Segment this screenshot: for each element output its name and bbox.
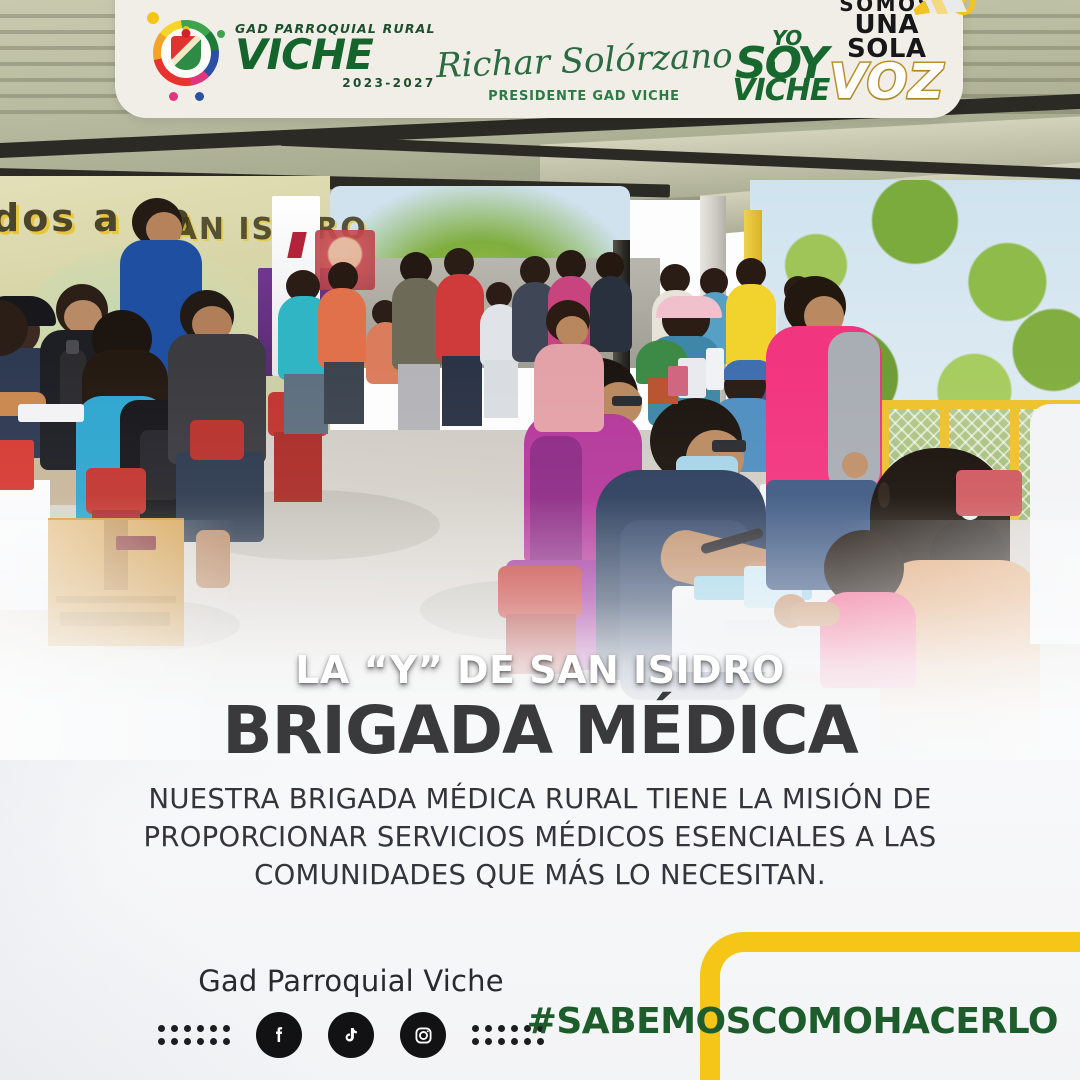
president-role-label: PRESIDENTE GAD VICHE bbox=[436, 89, 733, 104]
megaphone-icon bbox=[904, 0, 980, 31]
footer: #SABEMOSCOMOHACERLO Gad Parroquial Viche bbox=[0, 940, 1080, 1080]
facebook-icon[interactable] bbox=[256, 1012, 302, 1058]
yo-soy-viche-logo: YO SOY ❤ VICHE bbox=[732, 30, 829, 104]
campaign-text-block: LA “Y” DE SAN ISIDRO BRIGADA MÉDICA NUES… bbox=[0, 650, 1080, 895]
page-title: BRIGADA MÉDICA bbox=[0, 696, 1080, 765]
ysv-line-2: SOY ❤ bbox=[732, 46, 829, 82]
campaign-description: NUESTRA BRIGADA MÉDICA RURAL TIENE LA MI… bbox=[0, 781, 1080, 895]
heart-icon: ❤ bbox=[773, 53, 788, 73]
tiktok-icon[interactable] bbox=[328, 1012, 374, 1058]
gad-viche-logo: GAD PARROQUIAL RURAL VICHE 2023-2027 bbox=[143, 8, 436, 104]
una-sola-voz-logo: SOMOS UNA SOLA VOZ bbox=[829, 0, 944, 104]
gad-name: VICHE bbox=[235, 34, 436, 76]
social-media-poster: dos a La SAN ISIDRO bbox=[0, 0, 1080, 1080]
instagram-icon[interactable] bbox=[400, 1012, 446, 1058]
gad-term-years: 2023-2027 bbox=[235, 77, 436, 89]
brand-name: Gad Parroquial Viche bbox=[96, 964, 606, 998]
dot-grid-left-icon bbox=[158, 1025, 230, 1045]
campaign-hashtag: #SABEMOSCOMOHACERLO bbox=[527, 1001, 1058, 1042]
location-kicker: LA “Y” DE SAN ISIDRO bbox=[0, 650, 1080, 692]
usv-line-3: VOZ bbox=[829, 60, 944, 104]
president-signature-block: Richar Solórzano PRESIDENTE GAD VICHE bbox=[436, 44, 733, 104]
viche-coat-of-arms-emblem bbox=[143, 8, 229, 104]
header-logo-bar: GAD PARROQUIAL RURAL VICHE 2023-2027 Ric… bbox=[115, 0, 963, 118]
president-signature: Richar Solórzano bbox=[435, 39, 733, 83]
